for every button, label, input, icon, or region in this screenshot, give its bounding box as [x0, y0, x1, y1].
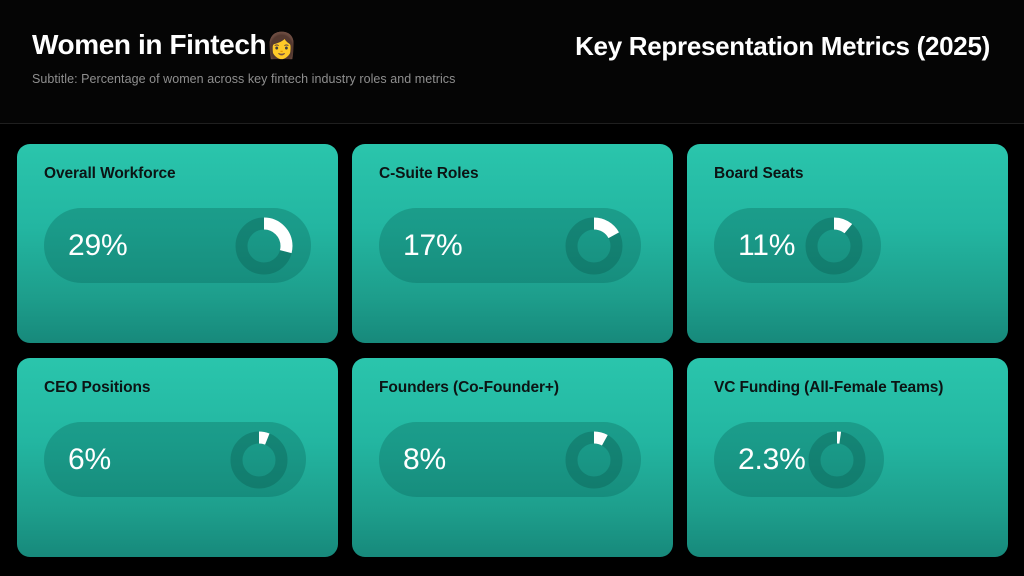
header-left-block: Women in Fintech👩 Subtitle: Percentage o… [32, 26, 455, 86]
progress-donut-icon [565, 217, 623, 275]
metric-card[interactable]: Founders (Co-Founder+)8% [352, 358, 673, 557]
metric-value: 29% [68, 231, 127, 261]
page-subtitle: Subtitle: Percentage of women across key… [32, 72, 455, 86]
page-title: Women in Fintech👩 [32, 26, 455, 65]
metric-card[interactable]: Overall Workforce29% [17, 144, 338, 343]
metric-card-title: CEO Positions [44, 379, 150, 397]
metric-pill[interactable]: 8% [379, 422, 641, 497]
metric-card[interactable]: CEO Positions6% [17, 358, 338, 557]
progress-donut-icon [565, 431, 623, 489]
progress-donut-icon [235, 217, 293, 275]
page-title-text: Women in Fintech [32, 29, 266, 60]
metric-card[interactable]: Board Seats11% [687, 144, 1008, 343]
metric-pill[interactable]: 29% [44, 208, 311, 283]
metrics-grid: Overall Workforce29%C-Suite Roles17%Boar… [17, 144, 1008, 557]
metric-value: 2.3% [738, 445, 806, 475]
metric-card-title: Overall Workforce [44, 165, 176, 183]
metric-value: 8% [403, 445, 446, 475]
metric-pill[interactable]: 11% [714, 208, 881, 283]
progress-donut-icon [808, 431, 866, 489]
progress-donut-icon [230, 431, 288, 489]
metric-value: 6% [68, 445, 111, 475]
metric-card-title: Founders (Co-Founder+) [379, 379, 559, 397]
metric-card[interactable]: C-Suite Roles17% [352, 144, 673, 343]
page-header: Women in Fintech👩 Subtitle: Percentage o… [0, 0, 1024, 124]
metric-value: 17% [403, 231, 462, 261]
metric-card[interactable]: VC Funding (All-Female Teams)2.3% [687, 358, 1008, 557]
metric-card-title: C-Suite Roles [379, 165, 478, 183]
metric-card-title: VC Funding (All-Female Teams) [714, 379, 943, 397]
woman-emoji: 👩 [266, 32, 297, 60]
header-divider [0, 123, 1024, 124]
metric-pill[interactable]: 2.3% [714, 422, 884, 497]
metric-card-title: Board Seats [714, 165, 803, 183]
progress-donut-icon [805, 217, 863, 275]
metric-pill[interactable]: 17% [379, 208, 641, 283]
header-right-title: Key Representation Metrics (2025) [575, 31, 990, 62]
metric-value: 11% [738, 231, 795, 261]
metric-pill[interactable]: 6% [44, 422, 306, 497]
